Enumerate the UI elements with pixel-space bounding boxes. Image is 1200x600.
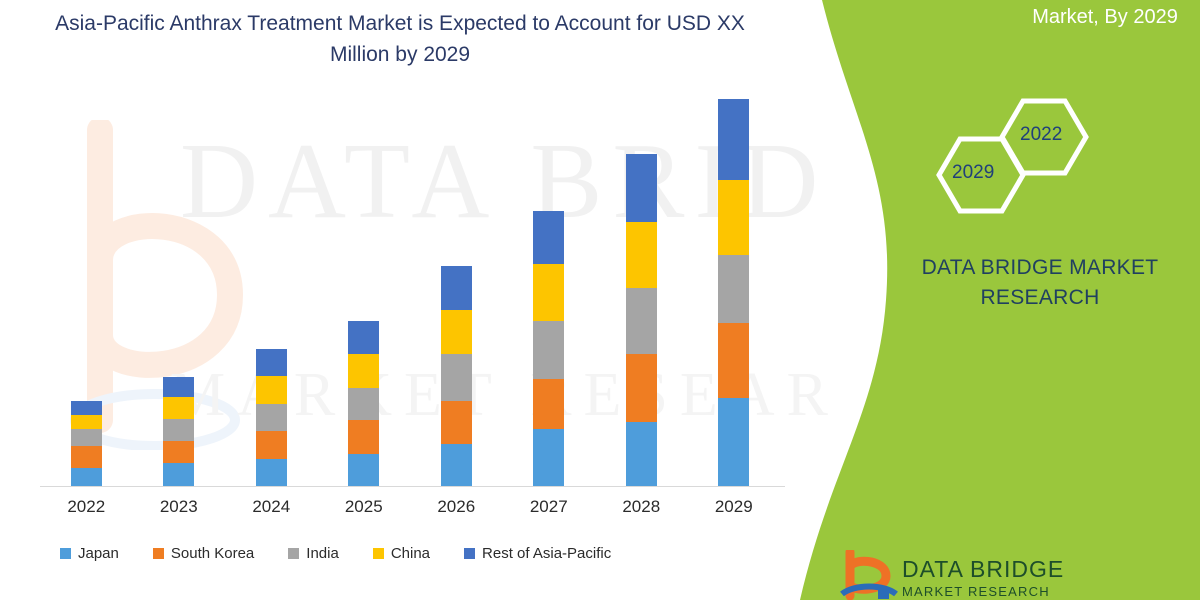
chart-bar-segment [626,288,657,354]
chart-bar [441,266,472,486]
brand-text: DATA BRIDGE MARKET RESEARCH [890,253,1190,313]
chart-bar-segment [256,404,287,432]
chart-bar-segment [71,468,102,486]
hexagon-2022-label: 2022 [1020,124,1062,146]
footer-logo-mark-icon [840,550,898,600]
chart-bar-segment [441,266,472,310]
chart-x-label: 2025 [329,497,399,517]
chart-bar-segment [256,431,287,459]
legend-label: India [306,545,339,562]
legend-item[interactable]: India [288,545,339,562]
chart-bar-segment [163,419,194,441]
chart-bar-segment [71,429,102,447]
chart-x-label: 2023 [144,497,214,517]
legend-item[interactable]: South Korea [153,545,254,562]
footer-logo-name: DATA BRIDGE [902,556,1064,583]
hexagon-badges: 2022 2029 [925,95,1110,220]
footer-logo-subtitle: MARKET RESEARCH [902,584,1050,599]
chart-bar-segment [348,321,379,354]
legend-label: South Korea [171,545,254,562]
infographic-canvas: DATA BRIDGE MARKET RESEARCH Market, By 2… [0,0,1200,600]
chart-bar [256,349,287,487]
legend-label: Japan [78,545,119,562]
chart-bar-segment [626,422,657,486]
legend-swatch-icon [153,548,164,559]
chart-bar-segment [718,398,749,486]
chart-bar [71,401,102,486]
chart-bar-segment [626,222,657,288]
legend-label: China [391,545,430,562]
chart-bar-segment [348,420,379,454]
chart-bar-segment [718,323,749,398]
chart-bar-segment [71,401,102,414]
chart-bar-segment [348,454,379,486]
chart-bar-segment [718,255,749,323]
chart-x-label: 2027 [514,497,584,517]
chart-bar-segment [533,264,564,321]
legend-swatch-icon [288,548,299,559]
chart-x-axis-labels: 20222023202420252026202720282029 [40,497,785,523]
chart-bar-segment [718,99,749,180]
chart-bar-segment [533,211,564,264]
hexagon-2029-label: 2029 [952,162,994,184]
chart-bar-segment [441,310,472,354]
chart-bar-segment [256,349,287,377]
chart-bar [718,99,749,486]
chart-bar-segment [626,354,657,422]
chart-legend: JapanSouth KoreaIndiaChinaRest of Asia-P… [60,540,645,566]
legend-swatch-icon [60,548,71,559]
chart-bar-segment [533,429,564,486]
chart-x-label: 2024 [236,497,306,517]
chart-bar-segment [71,446,102,468]
brand-text-line-1: DATA BRIDGE MARKET [890,253,1190,283]
legend-swatch-icon [464,548,475,559]
chart-bar-segment [626,154,657,222]
legend-label: Rest of Asia-Pacific [482,545,611,562]
chart-bar-segment [718,180,749,255]
brand-text-line-2: RESEARCH [890,283,1190,313]
legend-item[interactable]: China [373,545,430,562]
chart-x-label: 2029 [699,497,769,517]
chart-bar [626,154,657,486]
stacked-bar-chart: 20222023202420252026202720282029 [0,0,800,540]
chart-bar-segment [163,463,194,486]
chart-plot-area [40,90,780,486]
chart-x-label: 2026 [421,497,491,517]
legend-item[interactable]: Rest of Asia-Pacific [464,545,611,562]
chart-bar-segment [533,379,564,429]
chart-bar-segment [163,441,194,463]
chart-bar-segment [533,321,564,379]
chart-x-label: 2022 [51,497,121,517]
chart-bar [348,321,379,486]
chart-x-label: 2028 [606,497,676,517]
chart-bar-segment [163,377,194,397]
chart-bar-segment [441,354,472,401]
chart-bar-segment [348,354,379,388]
chart-bar-segment [441,444,472,486]
chart-bar [163,377,194,486]
chart-bar-segment [163,397,194,419]
chart-bar-segment [71,415,102,429]
chart-bar-segment [256,459,287,487]
chart-bar-segment [348,388,379,420]
legend-swatch-icon [373,548,384,559]
panel-heading: Market, By 2029 [1010,6,1200,29]
chart-bar-segment [441,401,472,444]
footer-logo: DATA BRIDGE MARKET RESEARCH [840,550,1190,600]
legend-item[interactable]: Japan [60,545,119,562]
chart-bar-segment [256,376,287,404]
chart-axis-line [40,486,785,487]
chart-bar [533,211,564,486]
